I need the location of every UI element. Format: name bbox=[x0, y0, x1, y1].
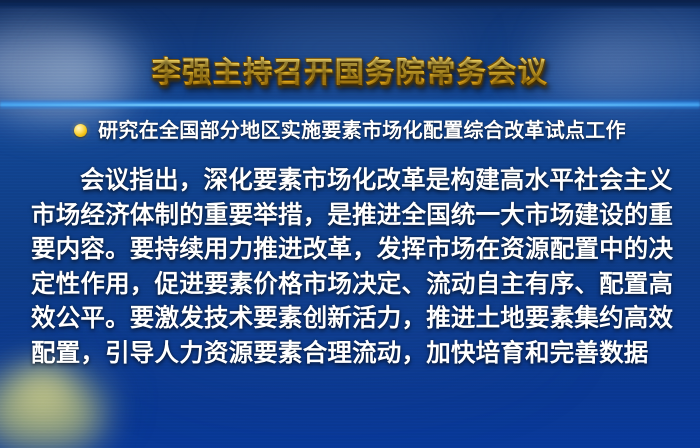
headline-title: 李强主持召开国务院常务会议 bbox=[0, 53, 700, 91]
body-line: 会议指出，深化要素市场化改革是构建高水平社会主义 bbox=[31, 163, 671, 198]
content-layer: 李强主持召开国务院常务会议 研究在全国部分地区实施要素市场化配置综合改革试点工作… bbox=[0, 0, 700, 448]
body-line: 配置，引导人力资源要素合理流动，加快培育和完善数据 bbox=[31, 336, 671, 371]
gold-bullet-icon bbox=[74, 124, 87, 137]
body-line: 效公平。要激发技术要素创新活力，推进土地要素集约高效 bbox=[31, 301, 671, 336]
body-line: 要内容。要持续用力推进改革，发挥市场在资源配置中的决 bbox=[31, 232, 671, 267]
body-line: 市场经济体制的重要举措，是推进全国统一大市场建设的重 bbox=[31, 198, 671, 233]
body-line: 定性作用，促进要素价格市场决定、流动自主有序、配置高 bbox=[31, 267, 671, 302]
subtitle-row: 研究在全国部分地区实施要素市场化配置综合改革试点工作 bbox=[0, 117, 700, 143]
subtitle-text: 研究在全国部分地区实施要素市场化配置综合改革试点工作 bbox=[98, 117, 626, 143]
broadcast-graphic-screen: 李强主持召开国务院常务会议 研究在全国部分地区实施要素市场化配置综合改革试点工作… bbox=[0, 0, 700, 448]
body-text-block: 会议指出，深化要素市场化改革是构建高水平社会主义 市场经济体制的重要举措，是推进… bbox=[31, 163, 671, 370]
